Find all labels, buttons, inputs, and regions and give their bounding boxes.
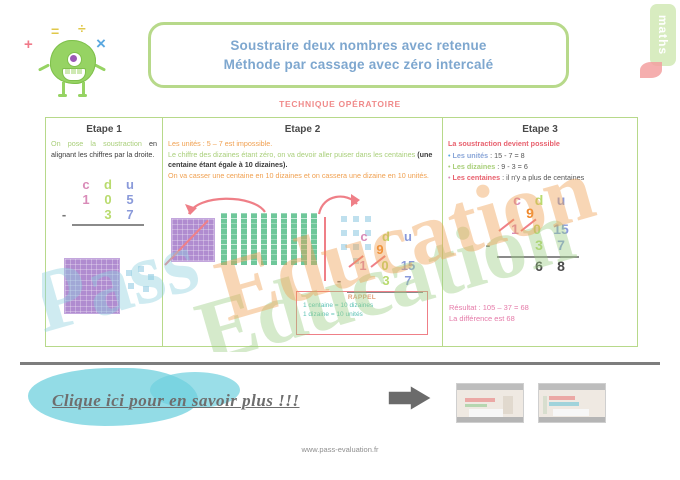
step-2-line2-green: Le chiffre des dizaines étant zéro, on v… [168, 150, 415, 159]
monster-mascot-icon: + = ÷ × [8, 10, 133, 95]
bullet-label-centaines: Les centaines [453, 173, 501, 182]
ten-bar [241, 213, 247, 265]
step-2-minus-sign: - [334, 273, 344, 288]
difference-line: La différence est 68 [449, 313, 529, 324]
mascot-arm-left [38, 63, 50, 71]
ten-bar [271, 213, 277, 265]
step-1-subtrahend: - 37 [72, 207, 144, 222]
ten-bar [231, 213, 237, 265]
unit-block [353, 216, 359, 222]
worksheet-page: + = ÷ × Soustraire deux nombres avec ret… [0, 0, 680, 480]
ten-bar [301, 213, 307, 265]
rappel-line-2: 1 dizaine = 10 unités [297, 310, 427, 319]
header-unites: u [119, 178, 141, 192]
unit-block [148, 274, 154, 280]
cta-link[interactable]: Clique ici pour en savoir plus !!! [52, 388, 352, 414]
header-unites: u [397, 230, 419, 244]
ten-bar [311, 213, 317, 265]
ten-bar [251, 213, 257, 265]
step-3-bullet: • Les centaines : il n'y a plus de centa… [448, 172, 632, 183]
rappel-line-1: 1 centaine = 10 dizaines [297, 301, 427, 310]
step-1-minuend: 105 [72, 192, 144, 207]
header-unites: u [550, 193, 572, 208]
step-2-carry-tens: 9 [369, 242, 391, 257]
divide-symbol-icon: ÷ [78, 20, 86, 36]
step-3-bullet: • Les dizaines : 9 - 3 = 6 [448, 161, 632, 172]
bullet-calc-dizaines: : 9 - 3 = 6 [497, 162, 528, 171]
multiply-symbol-icon: × [96, 34, 106, 54]
section-divider [20, 362, 660, 365]
unit-block [365, 216, 371, 222]
header-centaines: c [75, 178, 97, 192]
footer-url: www.pass-evaluation.fr [0, 445, 680, 454]
step-column-1: Etape 1 On pose la soustraction en align… [46, 118, 163, 346]
step-2-operation: cdu 9 1015 - 37 [347, 230, 425, 293]
equals-symbol-icon: = [51, 23, 59, 39]
step-column-3: Etape 3 La soustraction devient possible… [443, 118, 637, 346]
hundred-block [64, 258, 120, 314]
step-3-minus-sign: - [483, 237, 493, 253]
lesson-title-line2: Méthode par cassage avec zéro intercalé [224, 55, 494, 74]
preview-thumbnail-2[interactable] [538, 383, 606, 423]
decorative-corner-mark [640, 62, 662, 78]
step-3-minuend: 1015 [497, 221, 581, 237]
unit-block [128, 283, 134, 289]
unit-block [138, 266, 144, 272]
arrow-right-icon[interactable] [386, 383, 434, 413]
subject-tab-label: maths [656, 15, 670, 55]
unit-block [143, 286, 149, 292]
bullet-label-dizaines: Les dizaines [453, 162, 496, 171]
rappel-box: RAPPEL 1 centaine = 10 dizaines 1 dizain… [296, 291, 428, 335]
lesson-title-card: Soustraire deux nombres avec retenue Mét… [148, 22, 569, 88]
bullet-calc-unites: : 15 - 7 = 8 [490, 151, 525, 160]
step-column-2: Etape 2 Les unités : 5 – 7 est impossibl… [163, 118, 443, 346]
step-3-bullet: • Les unités : 15 - 7 = 8 [448, 150, 632, 161]
step-1-place-headers: cdu [72, 178, 144, 192]
step-2-text: Les unités : 5 – 7 est impossible. Le ch… [163, 135, 442, 181]
result-line: Résultat : 105 – 37 = 68 [449, 302, 529, 313]
mascot-foot-left [58, 94, 67, 97]
plus-symbol-icon: + [24, 36, 33, 53]
ten-bar [261, 213, 267, 265]
step-1-result-bar [72, 224, 144, 226]
ten-bar [281, 213, 287, 265]
step-3-units-value: 15 [548, 221, 574, 237]
lesson-title-line1: Soustraire deux nombres avec retenue [230, 36, 486, 55]
unit-block [341, 216, 347, 222]
step-3-result-summary: Résultat : 105 – 37 = 68 La différence e… [449, 302, 529, 324]
step-2-subtrahend: - 37 [347, 273, 425, 288]
step-1-text-green: On pose la soustraction [51, 139, 142, 148]
step-3-title: Etape 3 [443, 124, 637, 135]
ten-bars-group [221, 213, 333, 270]
step-3-operation: cdu 9 1015 - 37 68 [497, 193, 581, 275]
steps-container: Etape 1 On pose la soustraction en align… [45, 117, 638, 347]
rappel-title: RAPPEL [297, 294, 427, 301]
ten-bar [291, 213, 297, 265]
section-heading: TECHNIQUE OPÉRATOIRE [0, 99, 680, 109]
step-3-text: La soustraction devient possible • Les u… [443, 135, 637, 183]
ten-bar [221, 213, 227, 265]
step-2-units-value: 15 [396, 258, 420, 273]
step-1-minus-sign: - [59, 207, 69, 222]
cta-label: Clique ici pour en savoir plus !!! [52, 391, 300, 411]
curved-arrow-icon [313, 188, 363, 216]
step-2-line1: Les unités : 5 – 7 est impossible. [168, 139, 437, 150]
step-3-intro: La soustraction devient possible [448, 139, 632, 150]
preview-thumbnail-1[interactable] [456, 383, 524, 423]
mascot-arm-right [94, 63, 106, 71]
step-3-result: 68 [497, 258, 581, 275]
unit-block [126, 270, 132, 276]
break-stroke-vertical [324, 217, 326, 281]
subject-tab-maths: maths [650, 4, 676, 66]
mascot-foot-right [78, 94, 87, 97]
step-1-text: On pose la soustraction en alignant les … [46, 135, 162, 160]
step-2-title: Etape 2 [163, 124, 442, 135]
step-1-operation: cdu 105 - 37 [72, 178, 144, 226]
step-3-subtrahend: - 37 [497, 237, 581, 253]
step-2-line3: On va casser une centaine en 10 dizaines… [168, 171, 437, 182]
mascot-mouth [62, 68, 86, 81]
bullet-calc-centaines: : il n'y a plus de centaines [502, 173, 584, 182]
step-2-minuend: 1015 [347, 258, 425, 273]
header-dizaines: d [97, 178, 119, 192]
step-1-title: Etape 1 [46, 124, 162, 135]
step-3-carry-tens: 9 [519, 205, 541, 221]
hundred-block-broken [171, 218, 215, 262]
mascot-pupil [70, 55, 77, 62]
curved-arrow-icon [183, 190, 273, 216]
bullet-label-unites: Les unités [453, 151, 489, 160]
